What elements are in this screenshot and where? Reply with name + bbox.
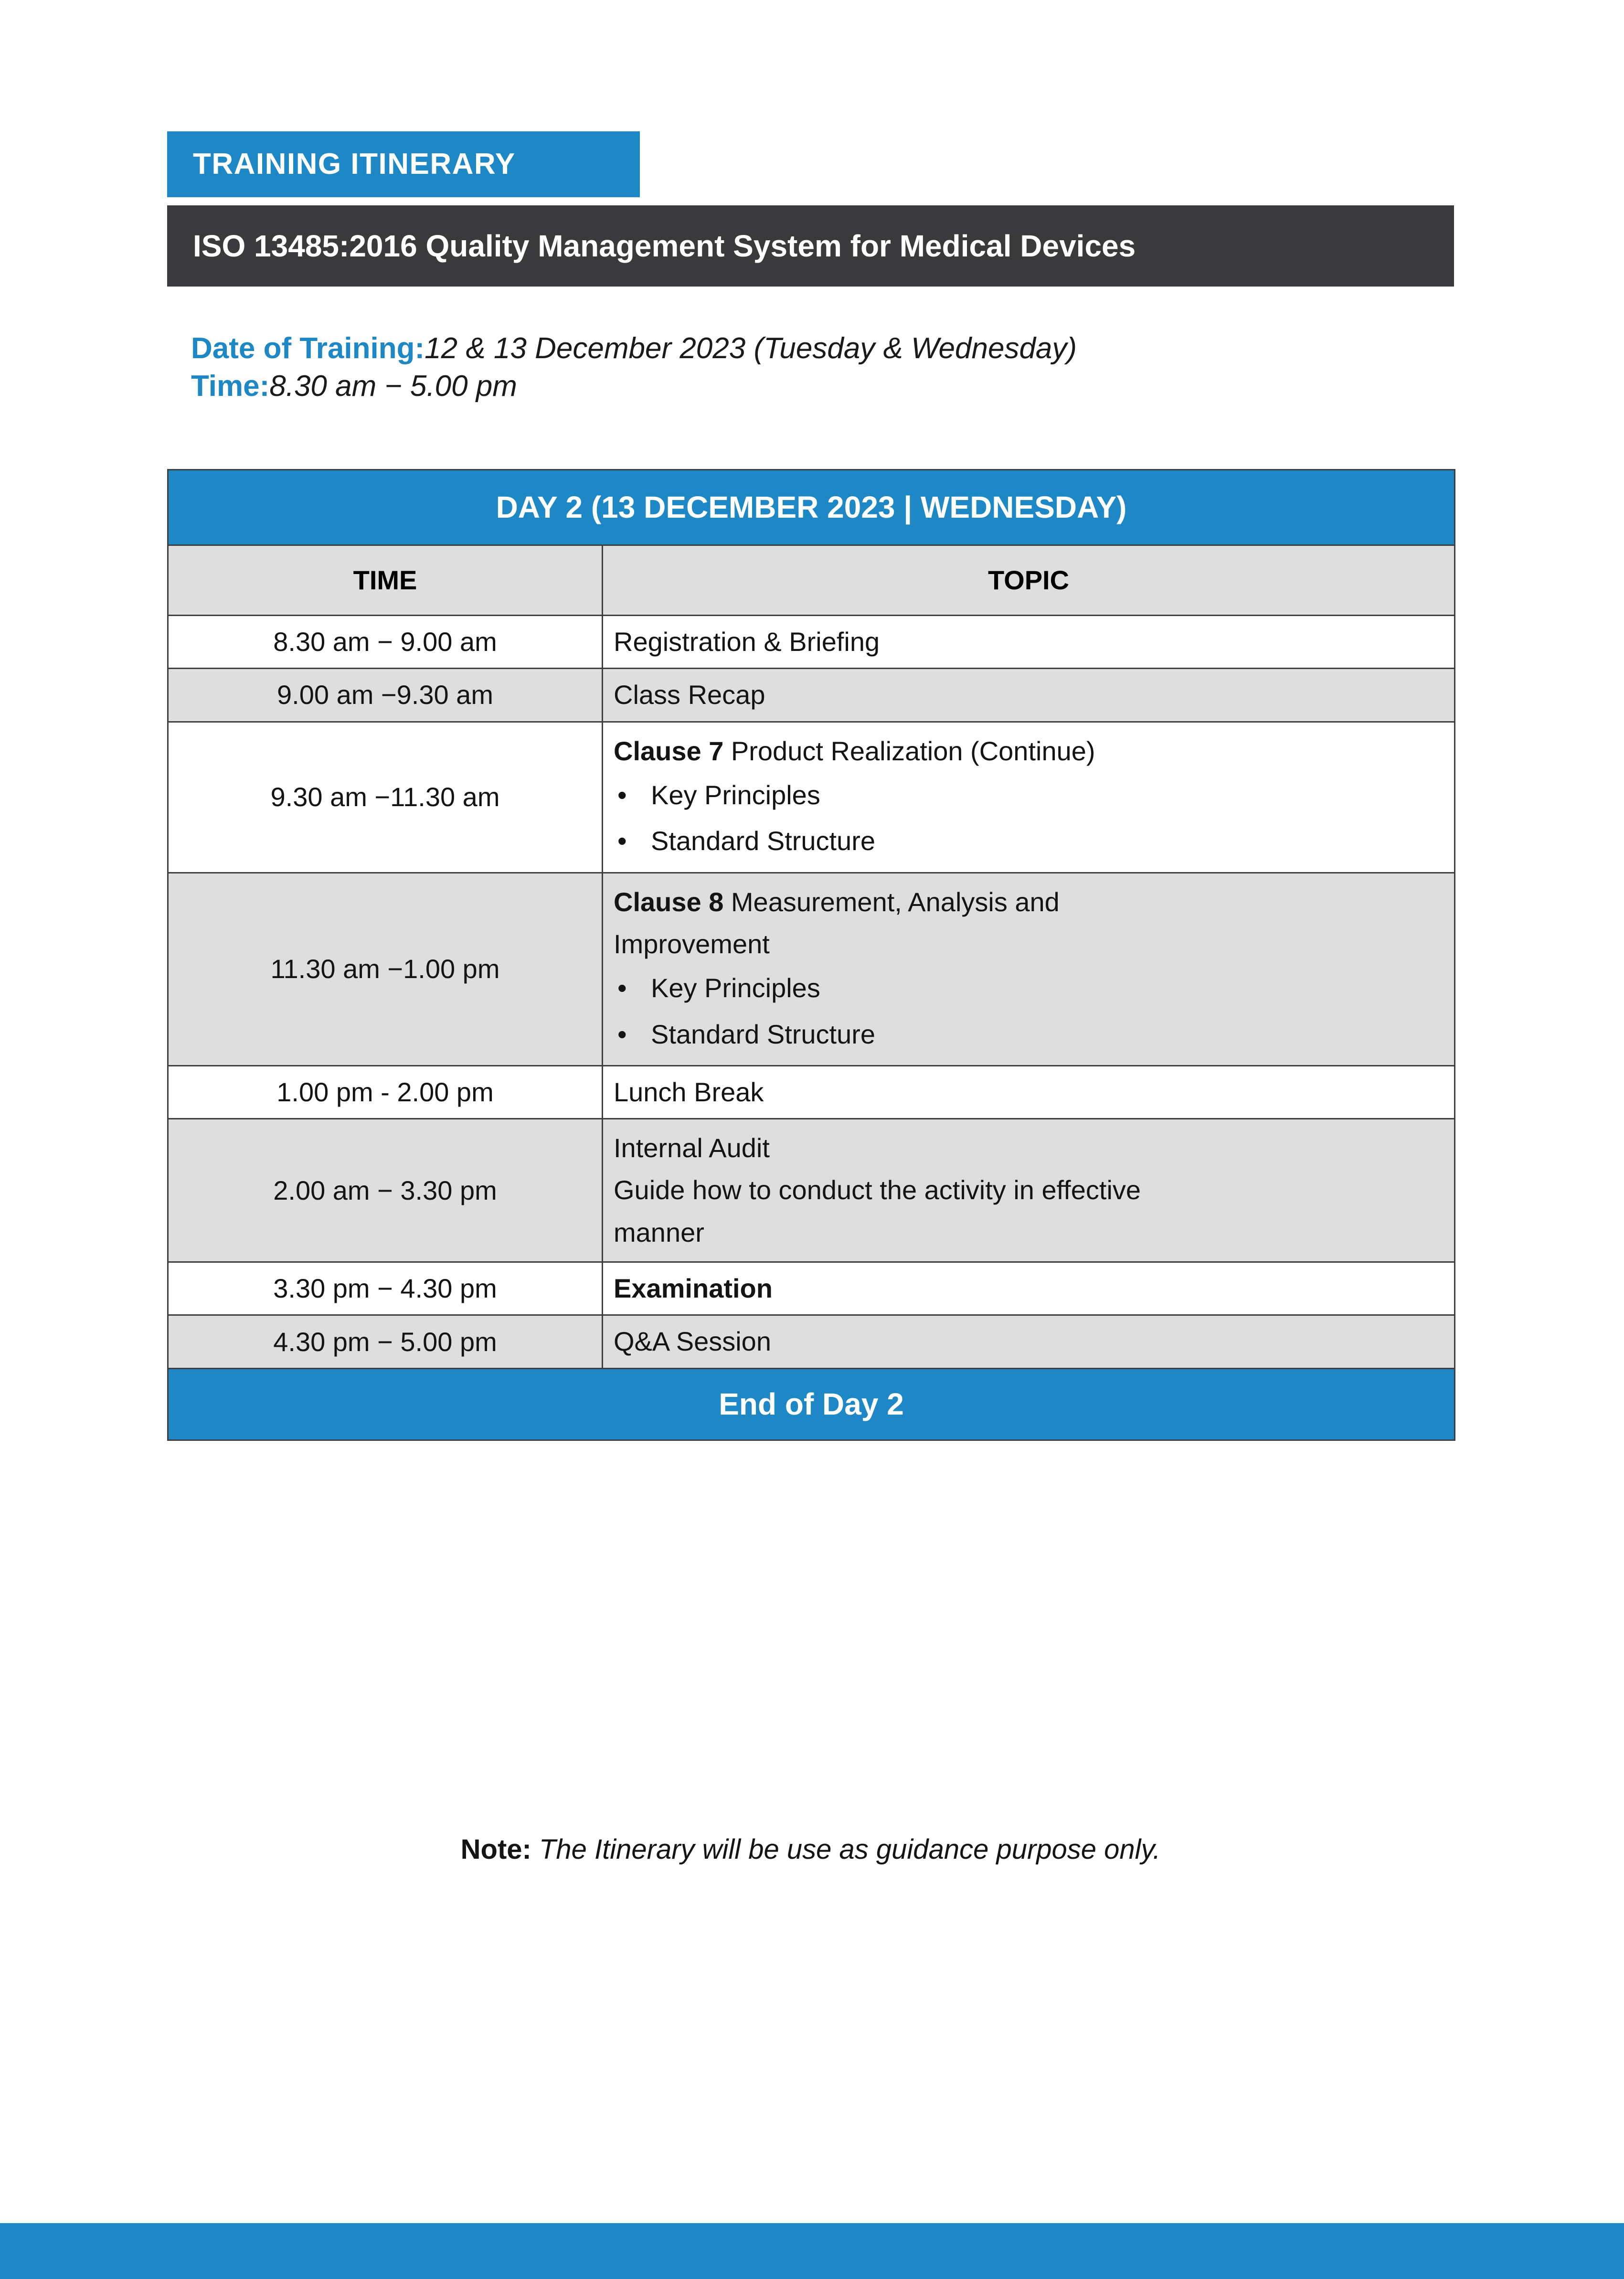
cell-time: 2.00 am − 3.30 pm [168, 1119, 603, 1262]
topic-emphasis: Examination [614, 1273, 773, 1303]
table-row: 3.30 pm − 4.30 pmExamination [168, 1262, 1455, 1315]
training-itinerary-badge: TRAINING ITINERARY [167, 131, 640, 197]
time-line: Time:8.30 am − 5.00 pm [191, 367, 1456, 405]
table-row: 4.30 pm − 5.00 pmQ&A Session [168, 1315, 1455, 1368]
table-row: 2.00 am − 3.30 pmInternal AuditGuide how… [168, 1119, 1455, 1262]
topic-text-line: Examination [614, 1270, 1449, 1307]
topic-text-line: Class Recap [614, 677, 1449, 713]
column-header-time: TIME [168, 545, 603, 616]
topic-bullet-item: Standard Structure [614, 818, 1449, 864]
date-of-training-line: Date of Training:12 & 13 December 2023 (… [191, 330, 1456, 367]
table-row: 1.00 pm - 2.00 pmLunch Break [168, 1065, 1455, 1118]
topic-emphasis: Clause 8 [614, 887, 723, 917]
topic-text-line: manner [614, 1212, 1449, 1254]
cell-topic: Lunch Break [603, 1065, 1455, 1118]
date-of-training-label: Date of Training: [191, 332, 425, 365]
topic-text-line: Lunch Break [614, 1074, 1449, 1110]
topic-text-line: Registration & Briefing [614, 624, 1449, 660]
topic-text-line: Q&A Session [614, 1323, 1449, 1360]
table-row: 9.00 am −9.30 amClass Recap [168, 669, 1455, 722]
column-header-row: TIME TOPIC [168, 545, 1455, 616]
table-row: 8.30 am − 9.00 amRegistration & Briefing [168, 616, 1455, 669]
end-of-day-row: End of Day 2 [168, 1368, 1455, 1440]
training-itinerary-badge-label: TRAINING ITINERARY [167, 149, 516, 179]
cell-topic: Clause 7 Product Realization (Continue)K… [603, 722, 1455, 873]
cell-time: 9.30 am −11.30 am [168, 722, 603, 873]
note-label: Note: [461, 1834, 531, 1865]
topic-text-line: Guide how to conduct the activity in eff… [614, 1169, 1449, 1211]
time-value: 8.30 am − 5.00 pm [269, 370, 517, 403]
end-of-day-label: End of Day 2 [168, 1368, 1455, 1440]
topic-text-line: Internal Audit [614, 1127, 1449, 1169]
cell-topic: Class Recap [603, 669, 1455, 722]
column-header-topic: TOPIC [603, 545, 1455, 616]
note-line: Note: The Itinerary will be use as guida… [167, 1833, 1454, 1866]
cell-time: 4.30 pm − 5.00 pm [168, 1315, 603, 1368]
cell-time: 3.30 pm − 4.30 pm [168, 1262, 603, 1315]
topic-bullet-item: Key Principles [614, 965, 1449, 1011]
topic-bullet-item: Standard Structure [614, 1012, 1449, 1057]
cell-time: 1.00 pm - 2.00 pm [168, 1065, 603, 1118]
cell-topic: Examination [603, 1262, 1455, 1315]
itinerary-table: DAY 2 (13 DECEMBER 2023 | WEDNESDAY) TIM… [167, 469, 1455, 1441]
topic-text-line: Clause 8 Measurement, Analysis and [614, 881, 1449, 923]
course-title-bar: ISO 13485:2016 Quality Management System… [167, 205, 1454, 287]
cell-time: 8.30 am − 9.00 am [168, 616, 603, 669]
date-of-training-value: 12 & 13 December 2023 (Tuesday & Wednesd… [425, 332, 1077, 365]
topic-text-line: Improvement [614, 923, 1449, 965]
itinerary-table-body: DAY 2 (13 DECEMBER 2023 | WEDNESDAY) TIM… [168, 470, 1455, 1440]
cell-topic: Q&A Session [603, 1315, 1455, 1368]
course-title: ISO 13485:2016 Quality Management System… [167, 229, 1136, 263]
time-label: Time: [191, 370, 269, 403]
day-banner-row: DAY 2 (13 DECEMBER 2023 | WEDNESDAY) [168, 470, 1455, 545]
topic-bullet-item: Key Principles [614, 772, 1449, 818]
table-row: 9.30 am −11.30 amClause 7 Product Realiz… [168, 722, 1455, 873]
cell-time: 9.00 am −9.30 am [168, 669, 603, 722]
cell-time: 11.30 am −1.00 pm [168, 873, 603, 1065]
training-meta: Date of Training:12 & 13 December 2023 (… [191, 330, 1456, 405]
cell-topic: Registration & Briefing [603, 616, 1455, 669]
day-banner-label: DAY 2 (13 DECEMBER 2023 | WEDNESDAY) [168, 470, 1455, 545]
cell-topic: Clause 8 Measurement, Analysis andImprov… [603, 873, 1455, 1065]
topic-text-line: Clause 7 Product Realization (Continue) [614, 730, 1449, 772]
document-page: TRAINING ITINERARY ISO 13485:2016 Qualit… [0, 0, 1624, 2279]
page-footer-bar [0, 2223, 1624, 2279]
table-row: 11.30 am −1.00 pmClause 8 Measurement, A… [168, 873, 1455, 1065]
topic-emphasis: Clause 7 [614, 736, 723, 766]
cell-topic: Internal AuditGuide how to conduct the a… [603, 1119, 1455, 1262]
note-text: The Itinerary will be use as guidance pu… [531, 1834, 1161, 1865]
